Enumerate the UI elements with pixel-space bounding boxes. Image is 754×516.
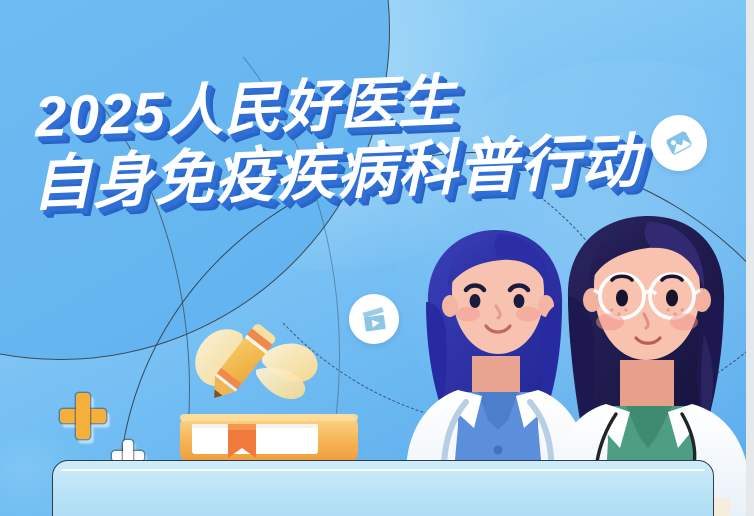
image-icon xyxy=(662,126,696,160)
right-edge-strip xyxy=(746,0,754,516)
video-badge[interactable] xyxy=(349,294,399,344)
headline-block: 2025人民好医生 自身免疫疾病科普行动 xyxy=(28,66,642,214)
plus-icon-orange xyxy=(60,393,106,439)
photo-badge[interactable] xyxy=(651,115,707,171)
poster-banner: 2025人民好医生 自身免疫疾病科普行动 xyxy=(0,0,754,516)
poster-canvas: 2025人民好医生 自身免疫疾病科普行动 xyxy=(0,0,746,516)
video-clapper-icon xyxy=(358,303,390,335)
desk-surface xyxy=(52,460,714,516)
